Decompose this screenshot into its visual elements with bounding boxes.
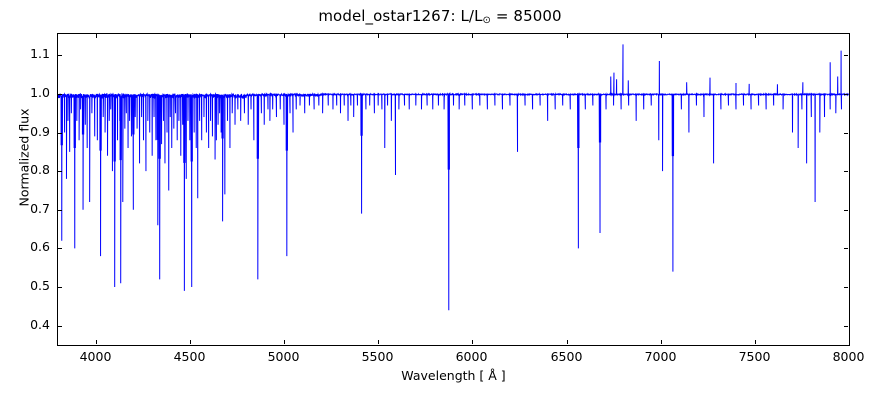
y-tick-mark-right — [844, 326, 848, 327]
x-tick-label: 6500 — [527, 349, 607, 364]
x-tick-mark-bottom-top — [567, 34, 568, 38]
x-tick-mark-bottom — [849, 340, 850, 344]
x-tick-mark-bottom-top — [472, 34, 473, 38]
y-tick-mark-left — [58, 55, 62, 56]
y-tick-mark-right — [844, 287, 848, 288]
x-tick-mark-bottom-top — [190, 34, 191, 38]
x-tick-label: 8000 — [809, 349, 880, 364]
y-tick-mark-left — [58, 287, 62, 288]
x-tick-mark-bottom-top — [661, 34, 662, 38]
x-tick-mark-bottom — [472, 340, 473, 344]
y-tick-label: 1.1 — [5, 46, 50, 61]
y-axis-label: Normalized flux — [17, 88, 32, 228]
x-tick-label: 4500 — [150, 349, 230, 364]
x-tick-mark-bottom — [755, 340, 756, 344]
y-tick-mark-right — [844, 248, 848, 249]
x-tick-label: 7000 — [621, 349, 701, 364]
page-title: model_ostar1267: L/L⊙ = 85000 — [0, 7, 880, 26]
normalized-flux-trace — [58, 44, 849, 310]
y-tick-mark-right — [844, 210, 848, 211]
y-tick-label: 0.5 — [5, 278, 50, 293]
x-tick-mark-bottom — [96, 340, 97, 344]
x-tick-mark-bottom-top — [378, 34, 379, 38]
plot-axes: 0.40.50.60.70.80.91.01.1 400045005000550… — [57, 33, 850, 346]
x-tick-label: 7500 — [715, 349, 795, 364]
x-axis-label: Wavelength [ Å ] — [57, 368, 850, 383]
y-tick-label: 0.4 — [5, 317, 50, 332]
matplotlib-figure: model_ostar1267: L/L⊙ = 85000 0.40.50.60… — [0, 0, 880, 400]
x-tick-mark-bottom — [661, 340, 662, 344]
y-tick-mark-left — [58, 133, 62, 134]
x-tick-mark-bottom — [190, 340, 191, 344]
y-tick-mark-right — [844, 94, 848, 95]
y-tick-mark-left — [58, 94, 62, 95]
x-tick-label: 6000 — [432, 349, 512, 364]
x-tick-mark-bottom-top — [284, 34, 285, 38]
y-tick-mark-left — [58, 326, 62, 327]
spectrum-line-series — [58, 44, 849, 310]
y-tick-mark-left — [58, 248, 62, 249]
y-tick-mark-right — [844, 55, 848, 56]
y-tick-mark-left — [58, 171, 62, 172]
x-tick-mark-bottom — [567, 340, 568, 344]
spectrum-plot-canvas — [58, 34, 849, 345]
x-tick-label: 5000 — [244, 349, 324, 364]
title-prefix: model_ostar1267: L/L — [318, 7, 482, 25]
y-tick-mark-left — [58, 210, 62, 211]
y-tick-mark-right — [844, 171, 848, 172]
x-tick-mark-bottom-top — [755, 34, 756, 38]
x-tick-mark-bottom-top — [96, 34, 97, 38]
title-suffix: = 85000 — [491, 7, 562, 25]
x-tick-mark-bottom — [284, 340, 285, 344]
x-tick-label: 5500 — [338, 349, 418, 364]
title-subscript-sun-symbol: ⊙ — [483, 15, 491, 26]
y-tick-label: 0.6 — [5, 239, 50, 254]
x-tick-mark-bottom-top — [849, 34, 850, 38]
x-tick-label: 4000 — [56, 349, 136, 364]
y-tick-mark-right — [844, 133, 848, 134]
x-tick-mark-bottom — [378, 340, 379, 344]
